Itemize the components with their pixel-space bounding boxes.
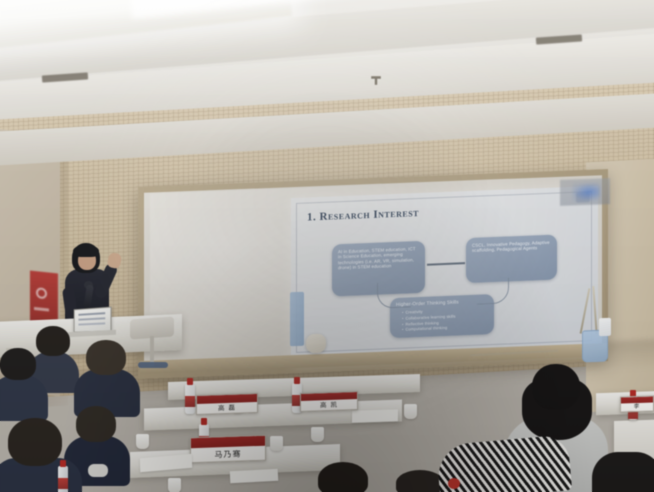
attendee-patterned-jacket xyxy=(438,440,570,492)
attendee-head xyxy=(86,340,126,375)
water-bottle xyxy=(58,466,68,492)
paper-cup xyxy=(270,436,283,451)
presenter-hair-front xyxy=(73,245,99,257)
name-placard: 马乃骞 xyxy=(190,435,266,464)
presenter-hand xyxy=(107,252,123,269)
name-placard-label: 高 磊 xyxy=(218,402,236,414)
slide-box-bottom-list: Creativity Collaborative learning skills… xyxy=(396,307,488,333)
attendee xyxy=(8,418,98,492)
lecture-hall-photo: 1. Research Interest AI in Education, ST… xyxy=(0,0,654,492)
name-placard: 高 磊 xyxy=(196,393,258,415)
projected-slide: 1. Research Interest AI in Education, ST… xyxy=(291,186,598,366)
stone-prop xyxy=(306,334,326,353)
document-sheet xyxy=(230,469,279,483)
connector-arc-left xyxy=(377,281,411,308)
slide-box-right: CSCL, Innovative Pedagogy, Adaptive scaf… xyxy=(466,234,557,283)
paper-cup xyxy=(168,478,181,492)
banner-circle-mark xyxy=(36,287,47,299)
attendee-head xyxy=(396,470,444,492)
banner-bar-mark xyxy=(34,307,49,312)
attendee xyxy=(86,340,152,402)
attendee-head xyxy=(8,418,62,466)
name-placard-label: 马乃骞 xyxy=(215,449,242,462)
paper-cup xyxy=(404,404,417,419)
document-sheet xyxy=(352,409,398,423)
attendee-head xyxy=(532,364,580,410)
attendee-head xyxy=(0,348,36,380)
water-bottle xyxy=(185,384,195,414)
name-placard: 李 xyxy=(620,395,654,412)
attendee xyxy=(592,452,654,492)
name-placard-label: 李 xyxy=(634,402,641,411)
projector-logo-icon xyxy=(572,183,600,202)
white-bottle-prop xyxy=(599,318,611,336)
name-placard: 高 凯 xyxy=(300,391,358,412)
attendee xyxy=(0,348,58,408)
name-placard-label: 高 凯 xyxy=(320,399,338,411)
attendee-head xyxy=(318,462,368,492)
blue-pillar-prop xyxy=(290,292,304,346)
paper-cup xyxy=(311,427,324,442)
attendee-body xyxy=(592,452,654,492)
attendee xyxy=(318,462,388,492)
attendee-body xyxy=(0,375,48,421)
